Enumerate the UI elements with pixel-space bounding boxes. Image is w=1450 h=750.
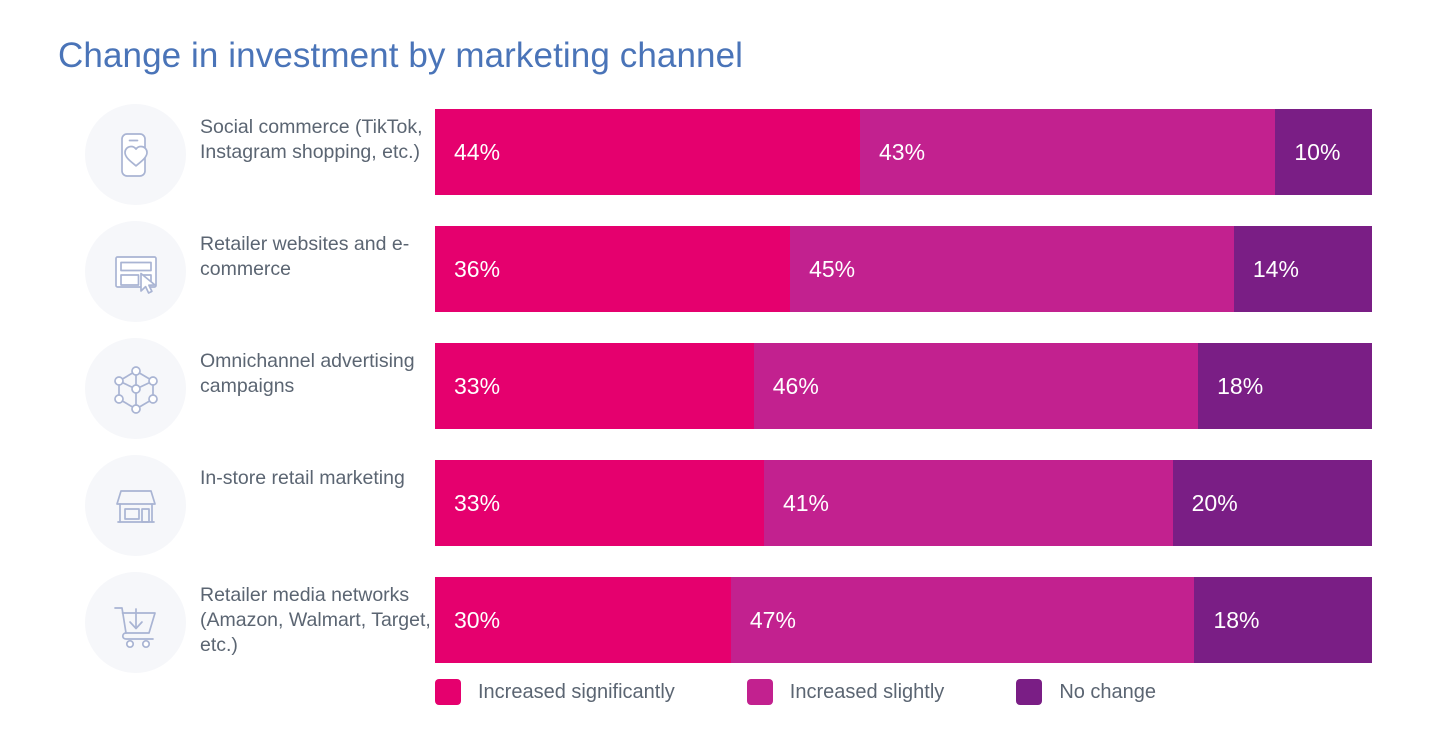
chart-row-label: Retailer websites and e-commerce [200,232,432,282]
cart-download-icon [85,572,186,673]
bar-segment-value: 43% [860,139,925,166]
chart-row: Retailer websites and e-commerce 36% 45%… [0,221,1450,338]
legend-swatch-increased-slightly [747,679,773,705]
bar-segment-value: 33% [435,373,500,400]
bar-segment-increased-significantly: 33% [435,460,764,546]
bar-segment-value: 44% [435,139,500,166]
chart-row: In-store retail marketing 33% 41% 20% [0,455,1450,572]
legend-swatch-increased-significantly [435,679,461,705]
legend-item-no-change[interactable]: No change [1016,679,1156,705]
legend-item-increased-significantly[interactable]: Increased significantly [435,679,675,705]
chart-row: Omnichannel advertising campaigns 33% 46… [0,338,1450,455]
stacked-bar: 30% 47% 18% [435,577,1372,663]
legend-swatch-no-change [1016,679,1042,705]
bar-segment-increased-significantly: 30% [435,577,731,663]
legend-label: Increased slightly [790,681,945,704]
stacked-bar: 44% 43% 10% [435,109,1372,195]
bar-segment-no-change: 18% [1194,577,1372,663]
bar-segment-increased-significantly: 44% [435,109,860,195]
chart-legend: Increased significantly Increased slight… [435,679,1372,705]
stacked-bar: 33% 41% 20% [435,460,1372,546]
bar-segment-no-change: 18% [1198,343,1372,429]
chart-row: Social commerce (TikTok, Instagram shopp… [0,104,1450,221]
bar-segment-increased-slightly: 47% [731,577,1195,663]
bar-segment-no-change: 20% [1173,460,1372,546]
legend-label: Increased significantly [478,681,675,704]
bar-segment-value: 14% [1234,256,1299,283]
chart-row-label: Social commerce (TikTok, Instagram shopp… [200,115,432,165]
chart-page: Change in investment by marketing channe… [0,0,1450,750]
chart-row-label: Omnichannel advertising campaigns [200,349,432,399]
bar-segment-value: 33% [435,490,500,517]
bar-segment-value: 18% [1194,607,1259,634]
stacked-bar: 36% 45% 14% [435,226,1372,312]
stacked-bar: 33% 46% 18% [435,343,1372,429]
bar-segment-value: 41% [764,490,829,517]
chart-row-label: In-store retail marketing [200,466,432,491]
bar-segment-value: 10% [1275,139,1340,166]
chart-row-label: Retailer media networks (Amazon, Walmart… [200,583,432,658]
bar-segment-increased-slightly: 43% [860,109,1275,195]
bar-segment-value: 18% [1198,373,1263,400]
bar-segment-increased-slightly: 46% [754,343,1198,429]
bar-segment-no-change: 14% [1234,226,1372,312]
bar-segment-no-change: 10% [1275,109,1372,195]
bar-segment-value: 30% [435,607,500,634]
storefront-icon [85,455,186,556]
phone-heart-icon [85,104,186,205]
bar-segment-value: 36% [435,256,500,283]
network-nodes-icon [85,338,186,439]
chart-rows: Social commerce (TikTok, Instagram shopp… [0,104,1450,689]
bar-segment-value: 45% [790,256,855,283]
bar-segment-value: 47% [731,607,796,634]
bar-segment-increased-significantly: 36% [435,226,790,312]
legend-label: No change [1059,681,1156,704]
chart-row: Retailer media networks (Amazon, Walmart… [0,572,1450,689]
legend-item-increased-slightly[interactable]: Increased slightly [747,679,945,705]
browser-cursor-icon [85,221,186,322]
bar-segment-increased-slightly: 45% [790,226,1234,312]
page-title: Change in investment by marketing channe… [58,36,743,76]
bar-segment-value: 46% [754,373,819,400]
bar-segment-increased-significantly: 33% [435,343,754,429]
bar-segment-value: 20% [1173,490,1238,517]
bar-segment-increased-slightly: 41% [764,460,1173,546]
